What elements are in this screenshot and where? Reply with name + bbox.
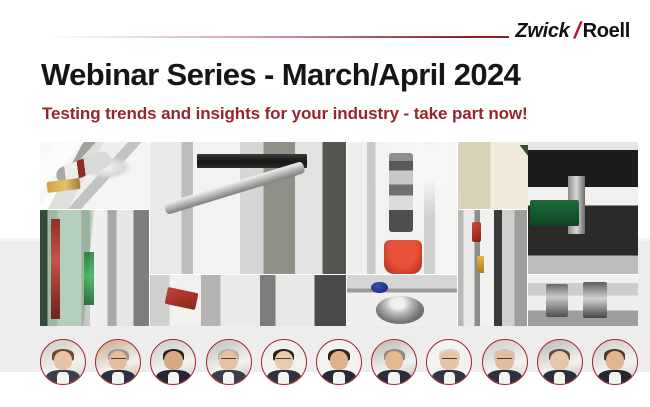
testing-equipment-photo-collage bbox=[40, 142, 638, 326]
avatar[interactable] bbox=[371, 339, 417, 385]
zwickroell-logo[interactable]: Zwick / Roell bbox=[515, 19, 630, 42]
avatar[interactable] bbox=[40, 339, 86, 385]
logo-text-zwick: Zwick bbox=[515, 21, 569, 41]
avatar-face bbox=[606, 351, 624, 369]
collage-tile-powder-sample-prep bbox=[347, 275, 457, 326]
avatar-shirt bbox=[609, 372, 620, 385]
collage-tile-high-temperature-furnace bbox=[40, 210, 149, 326]
avatar-shirt bbox=[333, 372, 344, 385]
avatar-shirt bbox=[388, 372, 399, 385]
collage-tile-test-fixture-detail bbox=[150, 275, 346, 326]
avatar-glasses-icon bbox=[276, 358, 291, 362]
banner-header: Zwick / Roell bbox=[0, 0, 650, 60]
avatar-shirt bbox=[223, 372, 234, 385]
avatar-shirt bbox=[554, 372, 565, 385]
avatar-shirt bbox=[112, 372, 123, 385]
avatar-face bbox=[164, 351, 182, 369]
gradient-rule bbox=[45, 36, 509, 38]
avatar[interactable] bbox=[206, 339, 252, 385]
avatar-glasses-icon bbox=[442, 358, 457, 362]
page-title: Webinar Series - March/April 2024 bbox=[41, 57, 520, 93]
collage-tile-compression-platens bbox=[528, 142, 638, 274]
avatar-face bbox=[385, 351, 403, 369]
collage-tile-universal-testing-machine bbox=[150, 142, 346, 274]
logo-slash-icon: / bbox=[573, 19, 580, 42]
avatar-shirt bbox=[499, 372, 510, 385]
avatar[interactable] bbox=[426, 339, 472, 385]
avatar[interactable] bbox=[95, 339, 141, 385]
avatar[interactable] bbox=[482, 339, 528, 385]
page-subtitle: Testing trends and insights for your ind… bbox=[42, 104, 528, 124]
collage-tile-automated-robot-cell bbox=[458, 210, 527, 326]
avatar[interactable] bbox=[150, 339, 196, 385]
avatar-face bbox=[54, 351, 72, 369]
avatar[interactable] bbox=[592, 339, 638, 385]
avatar-shirt bbox=[57, 372, 68, 385]
webinar-banner: Zwick / Roell Webinar Series - March/Apr… bbox=[0, 0, 650, 407]
avatar-shirt bbox=[444, 372, 455, 385]
webinar-presenter-avatars bbox=[40, 339, 638, 391]
collage-tile-robot-arm-handling bbox=[40, 142, 149, 209]
avatar[interactable] bbox=[261, 339, 307, 385]
avatar-shirt bbox=[278, 372, 289, 385]
avatar[interactable] bbox=[537, 339, 583, 385]
collage-tile-hydraulic-specimen-grip bbox=[347, 142, 457, 274]
collage-tile-tensile-grip-assembly bbox=[528, 275, 638, 326]
avatar-face bbox=[330, 351, 348, 369]
avatar-shirt bbox=[168, 372, 179, 385]
avatar-glasses-icon bbox=[497, 358, 512, 362]
logo-text-roell: Roell bbox=[583, 21, 630, 41]
avatar-glasses-icon bbox=[111, 358, 126, 362]
avatar[interactable] bbox=[316, 339, 362, 385]
avatar-face bbox=[550, 351, 568, 369]
avatar-glasses-icon bbox=[221, 358, 236, 362]
